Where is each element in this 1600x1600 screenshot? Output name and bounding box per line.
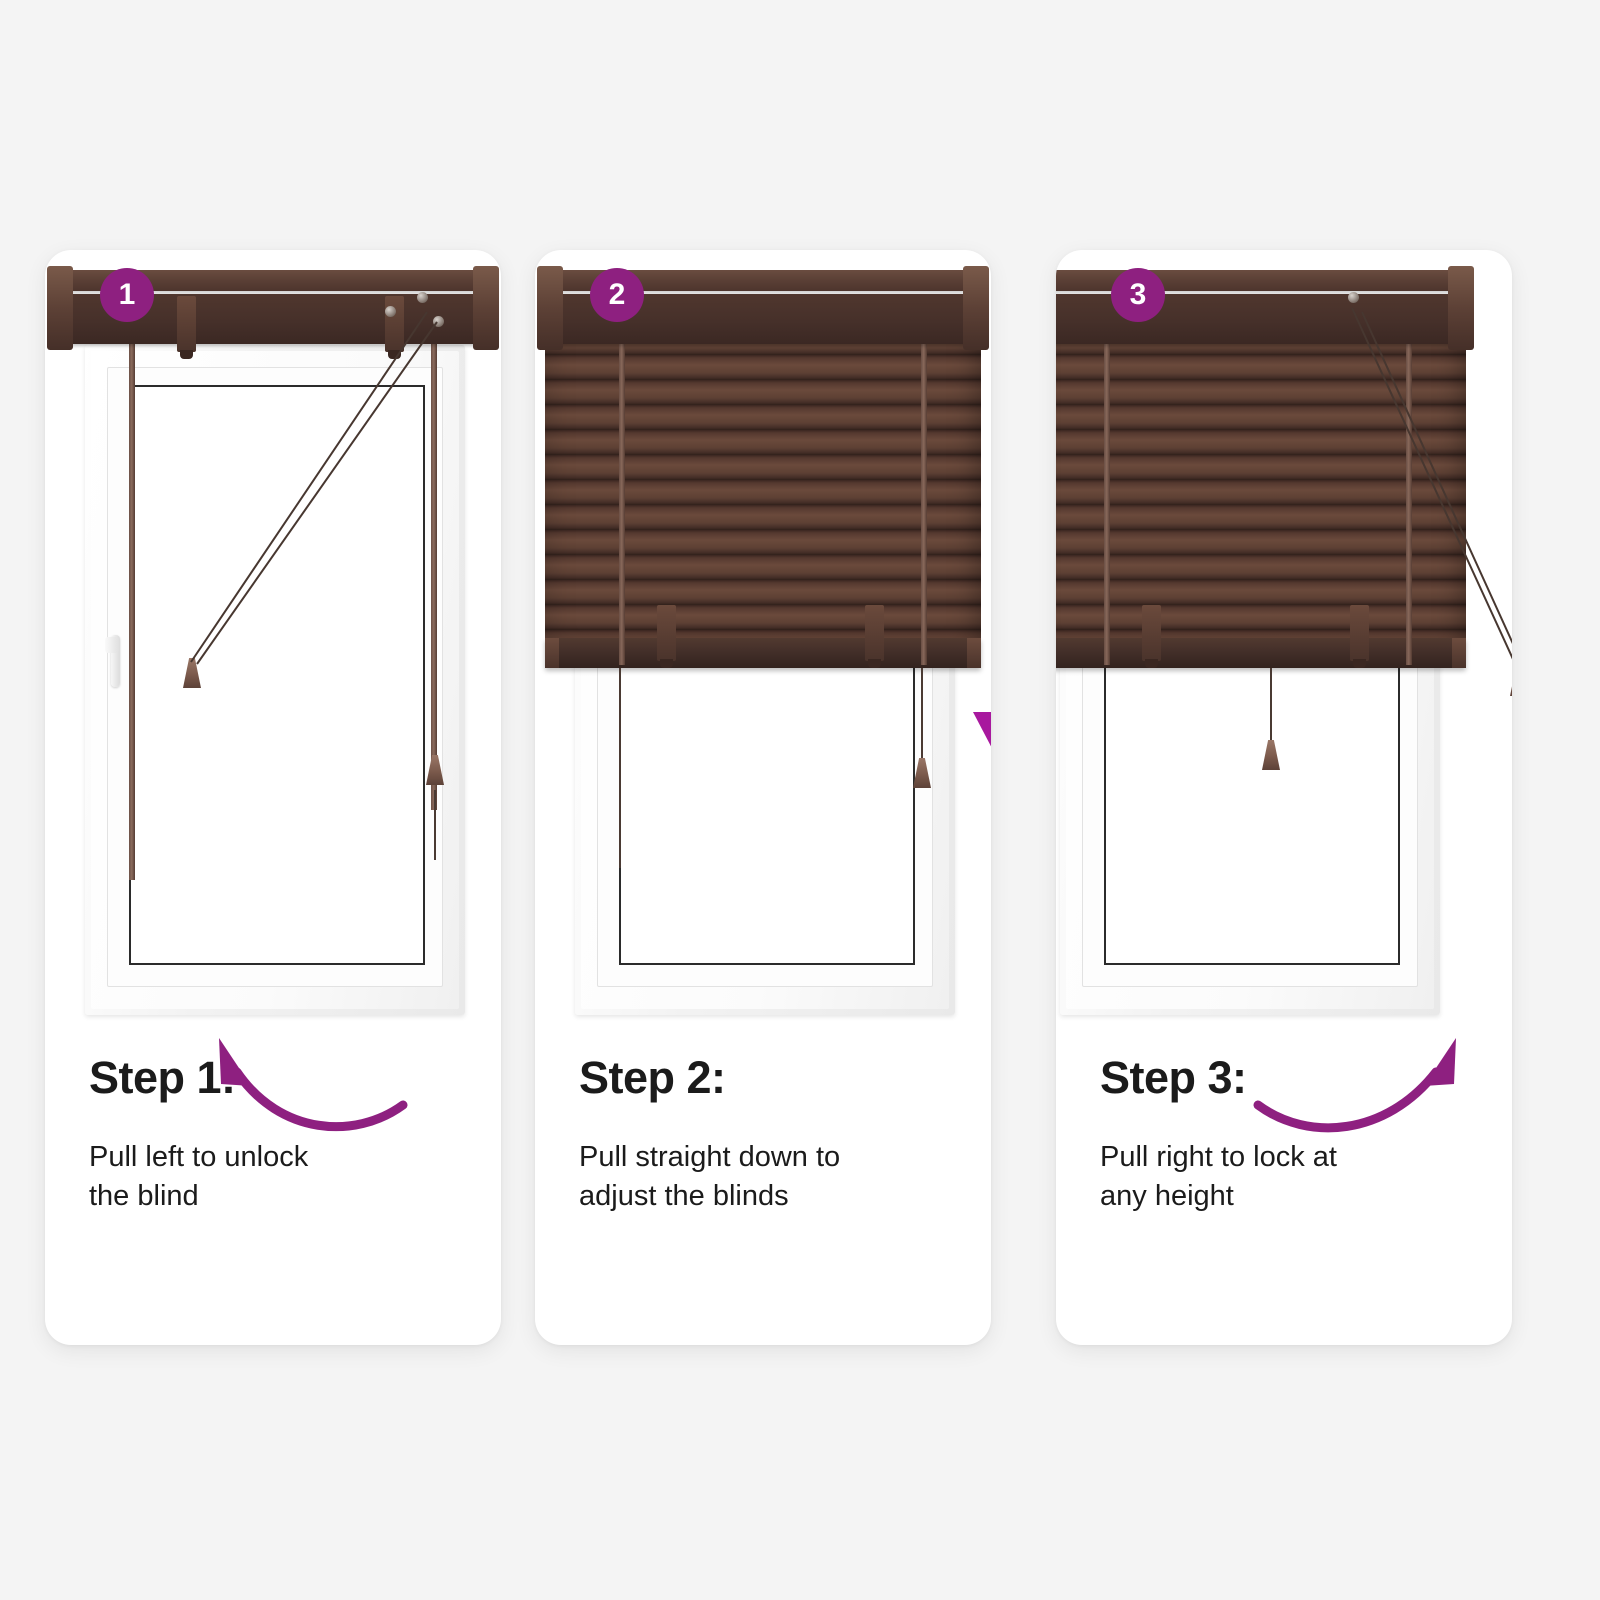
blind-ladder-tape-right-2 [921, 305, 927, 665]
blind-bottom-rail-3 [1056, 638, 1466, 668]
captions-2: Step 2: Pull straight down to adjust the… [579, 1055, 959, 1216]
ladder-clip-right-2 [865, 605, 884, 661]
blind-ladder-tape-right [431, 320, 437, 810]
step-badge-2: 2 [590, 268, 644, 322]
step-card-1: 1 [45, 250, 501, 1345]
captions-1: Step 1: Pull left to unlock the blind [89, 1055, 469, 1216]
window-frame-1 [85, 345, 465, 1015]
blind-ladder-tape-left-2 [619, 305, 625, 665]
step-badge-1: 1 [100, 268, 154, 322]
ladder-clip-right-3 [1350, 605, 1369, 661]
step-card-2: 2 [535, 250, 991, 1345]
cord-lock-pulley-icon [417, 292, 428, 303]
blind-slats-3 [1056, 305, 1466, 645]
window-handle-icon [111, 635, 120, 687]
right-cord-1 [434, 790, 436, 860]
step-title-1: Step 1: [89, 1055, 469, 1100]
instruction-diagram: 1 [0, 0, 1600, 1600]
cord-lock-pulley-3-icon [433, 316, 444, 327]
lift-cord-left-2 [619, 668, 621, 868]
blind-ladder-tape-right-3 [1406, 305, 1412, 665]
blind-ladder-tape-left [129, 320, 135, 880]
cord-lock-pulley-2-icon [385, 306, 396, 317]
ladder-clip-left-3 [1142, 605, 1161, 661]
cord-lock-pulley-icon-3 [1348, 292, 1359, 303]
step-card-3: 3 [1056, 250, 1512, 1345]
blind-ladder-tape-left-3 [1104, 305, 1110, 665]
step-body-1: Pull left to unlock the blind [89, 1138, 469, 1216]
illustration-step-2 [535, 250, 991, 1050]
step-badge-3: 3 [1111, 268, 1165, 322]
illustration-step-1 [45, 250, 501, 1050]
blind-slats-2 [545, 305, 981, 645]
cord-tassel-3 [1510, 666, 1512, 696]
step-body-3: Pull right to lock at any height [1100, 1138, 1480, 1216]
step-title-2: Step 2: [579, 1055, 959, 1100]
step-title-3: Step 3: [1100, 1055, 1480, 1100]
ladder-clip-left-2 [657, 605, 676, 661]
captions-3: Step 3: Pull right to lock at any height [1100, 1055, 1480, 1216]
step-body-2: Pull straight down to adjust the blinds [579, 1138, 959, 1216]
illustration-step-3 [1056, 250, 1512, 1050]
blind-bottom-rail-2 [545, 638, 981, 668]
